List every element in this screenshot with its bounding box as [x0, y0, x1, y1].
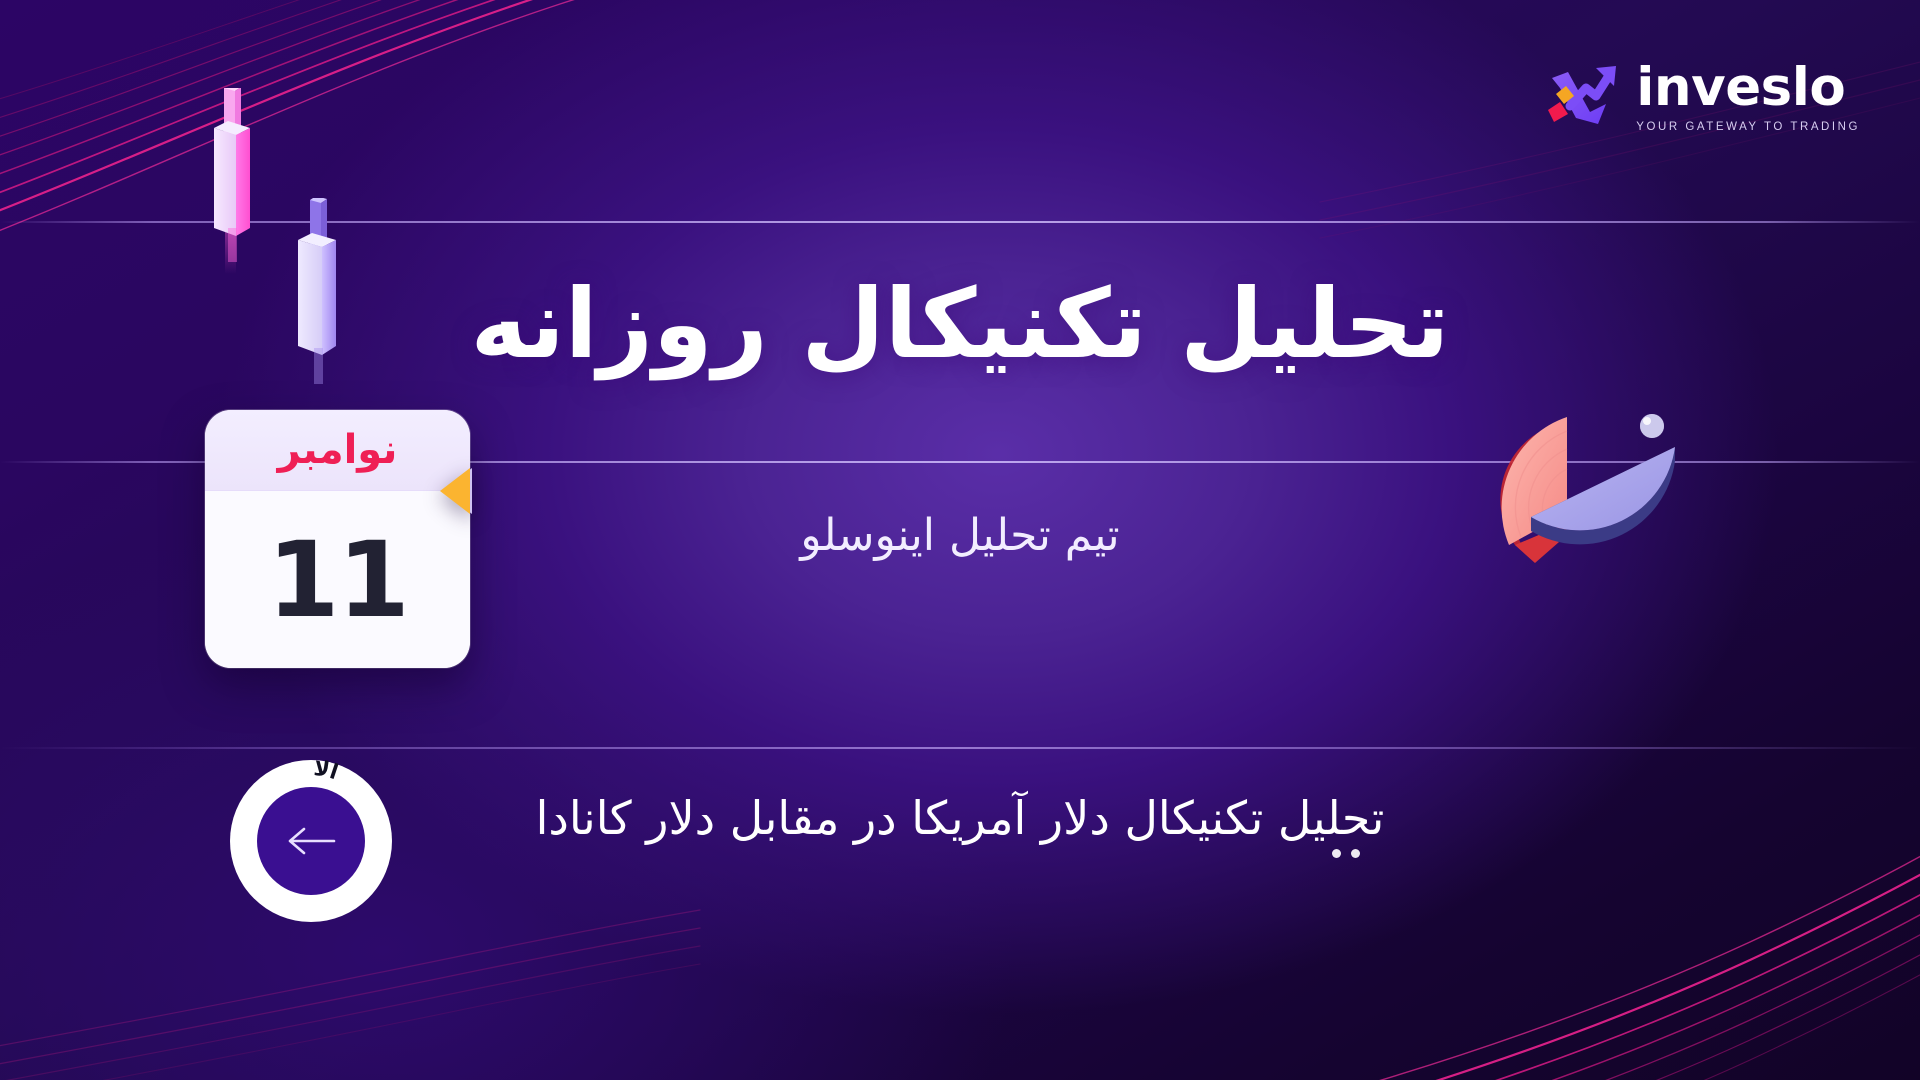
pie-chart-3d-icon — [1475, 395, 1690, 595]
candlestick-pink-icon — [198, 88, 264, 278]
calendar-day-number: 11 — [267, 528, 408, 632]
wave-lines-top-left-icon — [0, 0, 910, 300]
page-title: تحلیل تکنیکال روزانه — [0, 268, 1920, 381]
calendar-card: نوامبر 11 — [205, 410, 470, 668]
arrow-up-trend-icon — [1546, 60, 1620, 134]
calendar-month-label: نوامبر — [278, 430, 398, 470]
calendar-body: 11 — [205, 491, 470, 668]
watch-now-badge[interactable]: الان ببین • الان ببین • — [222, 752, 400, 930]
arrow-left-icon — [282, 824, 340, 858]
poster-canvas: inveslo YOUR GATEWAY TO TRADING تحلیل تک… — [0, 0, 1920, 1080]
sphere-3d-icon — [1640, 414, 1664, 438]
calendar-header: نوامبر — [205, 410, 470, 491]
divider-bottom — [0, 747, 1920, 749]
logo-wordmark: inveslo — [1636, 61, 1845, 114]
play-triangle-icon — [440, 468, 470, 514]
logo-tagline: YOUR GATEWAY TO TRADING — [1636, 121, 1860, 133]
page-description: تحلیل تکنیکال دلار آمریکا در مقابل دلار … — [480, 786, 1440, 851]
brand-logo[interactable]: inveslo YOUR GATEWAY TO TRADING — [1546, 60, 1860, 134]
